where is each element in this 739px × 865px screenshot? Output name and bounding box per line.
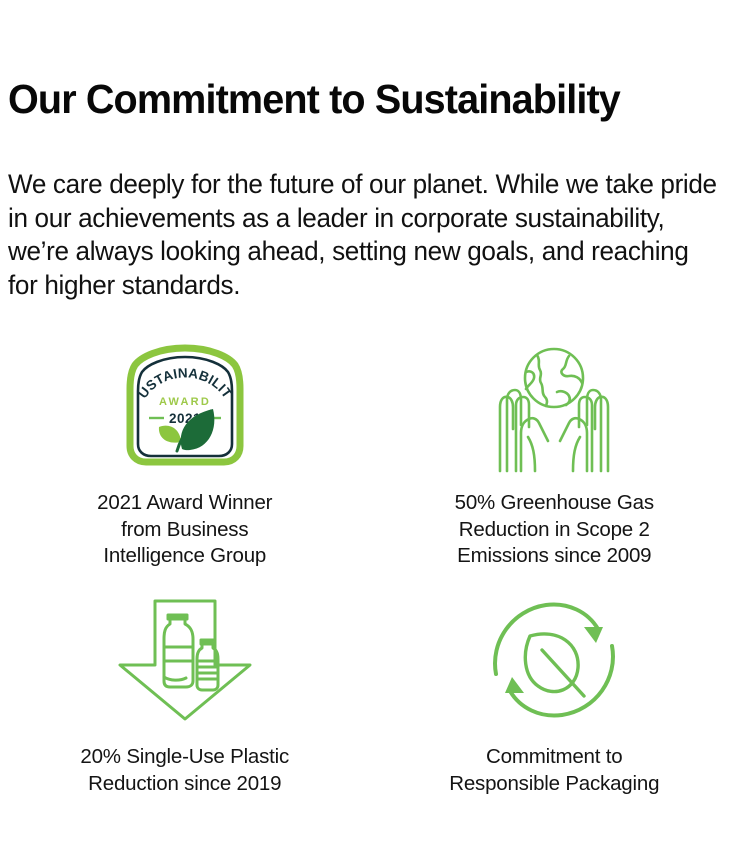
- achievement-caption: 20% Single-Use Plastic Reduction since 2…: [80, 744, 289, 797]
- intro-paragraph: We care deeply for the future of our pla…: [8, 168, 721, 302]
- caption-line: 50% Greenhouse Gas: [455, 490, 654, 517]
- achievement-caption: 50% Greenhouse Gas Reduction in Scope 2 …: [455, 490, 654, 570]
- achievement-card-responsible-packaging: Commitment to Responsible Packaging: [370, 590, 739, 820]
- caption-line: Intelligence Group: [97, 543, 272, 570]
- hands-holding-globe-icon: [483, 344, 625, 472]
- down-arrow-plastic-bottles-icon: [110, 590, 260, 730]
- achievement-card-plastic-reduction: 20% Single-Use Plastic Reduction since 2…: [0, 590, 370, 820]
- caption-line: Emissions since 2009: [455, 543, 654, 570]
- caption-line: Responsible Packaging: [449, 771, 659, 798]
- achievements-grid: SUSTAINABILITY AWARD 2021: [0, 344, 739, 820]
- caption-line: Reduction since 2019: [80, 771, 289, 798]
- badge-subtitle: AWARD: [159, 396, 211, 408]
- caption-line: 2021 Award Winner: [97, 490, 272, 517]
- achievement-card-greenhouse-gas: 50% Greenhouse Gas Reduction in Scope 2 …: [370, 344, 739, 590]
- caption-line: 20% Single-Use Plastic: [80, 744, 289, 771]
- page-title: Our Commitment to Sustainability: [8, 78, 620, 121]
- achievement-caption: Commitment to Responsible Packaging: [449, 744, 659, 797]
- achievement-card-award: SUSTAINABILITY AWARD 2021: [0, 344, 370, 590]
- sustainability-page: Our Commitment to Sustainability We care…: [0, 0, 739, 865]
- caption-line: from Business: [97, 517, 272, 544]
- sustainability-award-badge-icon: SUSTAINABILITY AWARD 2021: [119, 344, 251, 472]
- caption-line: Reduction in Scope 2: [455, 517, 654, 544]
- achievement-caption: 2021 Award Winner from Business Intellig…: [97, 490, 272, 570]
- caption-line: Commitment to: [449, 744, 659, 771]
- recycling-leaf-icon: [484, 590, 624, 730]
